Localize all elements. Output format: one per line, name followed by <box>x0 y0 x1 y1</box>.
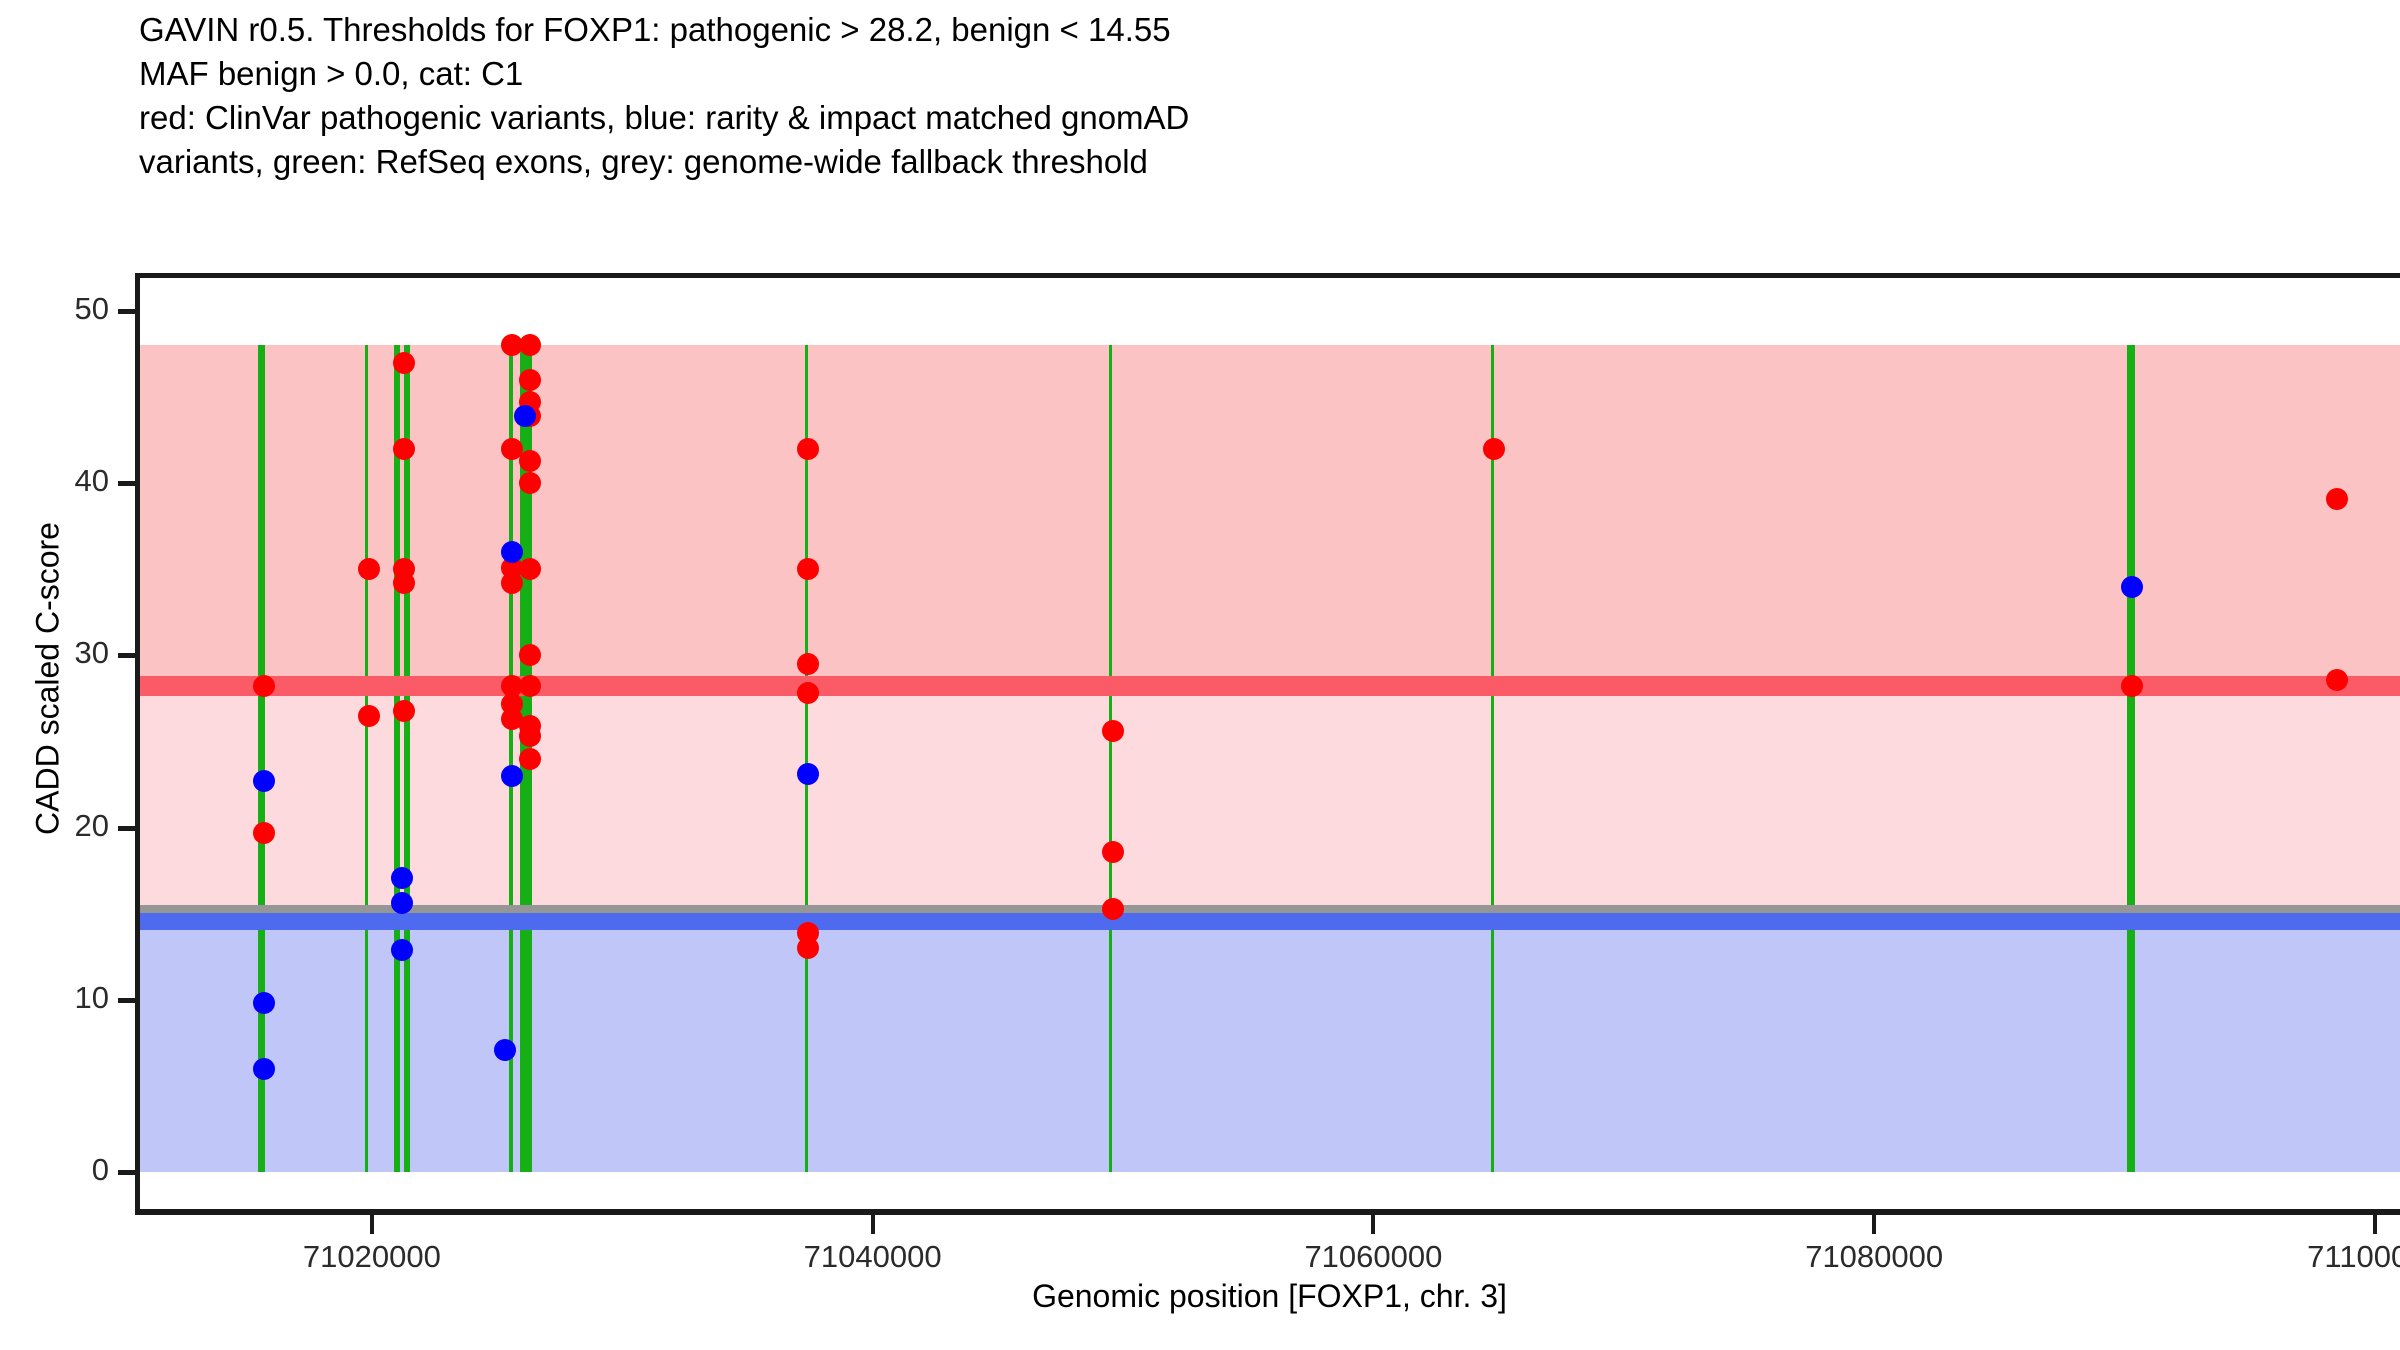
pathogenic-variant-point <box>2326 669 2348 691</box>
y-axis-line <box>135 273 140 1214</box>
y-axis-tick <box>118 1170 135 1175</box>
exon-line <box>805 345 808 1172</box>
y-axis-tick-label: 40 <box>0 463 109 499</box>
exon-line <box>1109 345 1112 1172</box>
x-axis-tick-label: 71080000 <box>1724 1239 2024 1275</box>
plot-title-block: GAVIN r0.5. Thresholds for FOXP1: pathog… <box>139 8 2339 184</box>
y-axis-tick <box>118 309 135 314</box>
x-axis-title: Genomic position [FOXP1, chr. 3] <box>139 1278 2400 1315</box>
gnomad-variant-point <box>391 939 413 961</box>
exon-line <box>258 345 265 1172</box>
title-line-legend-green-grey: variants, green: RefSeq exons, grey: gen… <box>139 140 2339 184</box>
x-axis-tick-label: 71060000 <box>1223 1239 1523 1275</box>
pathogenic-variant-point <box>797 438 819 460</box>
x-axis-line <box>135 1209 2400 1215</box>
pathogenic-variant-point <box>519 369 541 391</box>
y-axis-tick <box>118 826 135 831</box>
y-axis-tick-label: 50 <box>0 291 109 327</box>
pathogenic-variant-point <box>1102 898 1124 920</box>
pathogenic-variant-point <box>519 558 541 580</box>
y-axis-tick-label: 10 <box>0 980 109 1016</box>
plot-panel <box>139 277 2400 1210</box>
panel-top-border <box>135 273 2400 278</box>
pathogenic-variant-point <box>393 352 415 374</box>
pathogenic-variant-point <box>519 748 541 770</box>
y-axis-tick-label: 0 <box>0 1152 109 1188</box>
x-axis-tick <box>2373 1215 2377 1234</box>
pathogenic-variant-point <box>519 334 541 356</box>
pathogenic-variant-point <box>253 822 275 844</box>
pathogenic-variant-point <box>393 700 415 722</box>
plot-root: GAVIN r0.5. Thresholds for FOXP1: pathog… <box>0 0 2400 1350</box>
x-axis-tick-label: 71020000 <box>222 1239 522 1275</box>
gnomad-variant-point <box>253 1058 275 1080</box>
pathogenic-variant-point <box>1102 720 1124 742</box>
x-axis-tick-label: 71100000 <box>2225 1239 2400 1275</box>
title-line-maf: MAF benign > 0.0, cat: C1 <box>139 52 2339 96</box>
gnomad-variant-point <box>501 765 523 787</box>
pathogenic-variant-point <box>519 675 541 697</box>
pathogenic-variant-point <box>393 438 415 460</box>
pathogenic-variant-point <box>1102 841 1124 863</box>
pathogenic-variant-point <box>519 725 541 747</box>
pathogenic-variant-point <box>519 450 541 472</box>
x-axis-tick <box>1872 1215 1876 1234</box>
pathogenic-variant-point <box>358 705 380 727</box>
y-axis-tick-label: 30 <box>0 635 109 671</box>
pathogenic-variant-point <box>519 472 541 494</box>
gnomad-variant-point <box>2121 576 2143 598</box>
y-axis-tick-label: 20 <box>0 808 109 844</box>
y-axis-tick <box>118 998 135 1003</box>
pathogenic-variant-point <box>797 682 819 704</box>
x-axis-tick <box>871 1215 875 1234</box>
pathogenic-variant-point <box>797 653 819 675</box>
threshold-line-pathogenic <box>139 676 2400 696</box>
y-axis-tick <box>118 481 135 486</box>
x-axis-tick-label: 71040000 <box>723 1239 1023 1275</box>
exon-line <box>365 345 368 1172</box>
x-axis-tick <box>370 1215 374 1234</box>
pathogenic-variant-point <box>797 558 819 580</box>
exon-line <box>404 345 410 1172</box>
pathogenic-variant-point <box>519 644 541 666</box>
pathogenic-variant-point <box>2326 488 2348 510</box>
title-line-thresholds: GAVIN r0.5. Thresholds for FOXP1: pathog… <box>139 8 2339 52</box>
gnomad-variant-point <box>391 867 413 889</box>
y-axis-tick <box>118 653 135 658</box>
zone-pathogenic <box>139 345 2400 696</box>
gnomad-variant-point <box>494 1039 516 1061</box>
threshold-line-fallback <box>139 905 2400 913</box>
pathogenic-variant-point <box>501 572 523 594</box>
exon-line <box>394 345 400 1172</box>
title-line-legend-red-blue: red: ClinVar pathogenic variants, blue: … <box>139 96 2339 140</box>
threshold-line-benign <box>139 913 2400 930</box>
zone-benign <box>139 930 2400 1172</box>
zone-vous <box>139 696 2400 908</box>
pathogenic-variant-point <box>797 937 819 959</box>
gnomad-variant-point <box>797 763 819 785</box>
gnomad-variant-point <box>514 405 536 427</box>
pathogenic-variant-point <box>1483 438 1505 460</box>
exon-line <box>2127 345 2135 1172</box>
x-axis-tick <box>1371 1215 1375 1234</box>
gnomad-variant-point <box>501 541 523 563</box>
exon-line <box>1491 345 1494 1172</box>
